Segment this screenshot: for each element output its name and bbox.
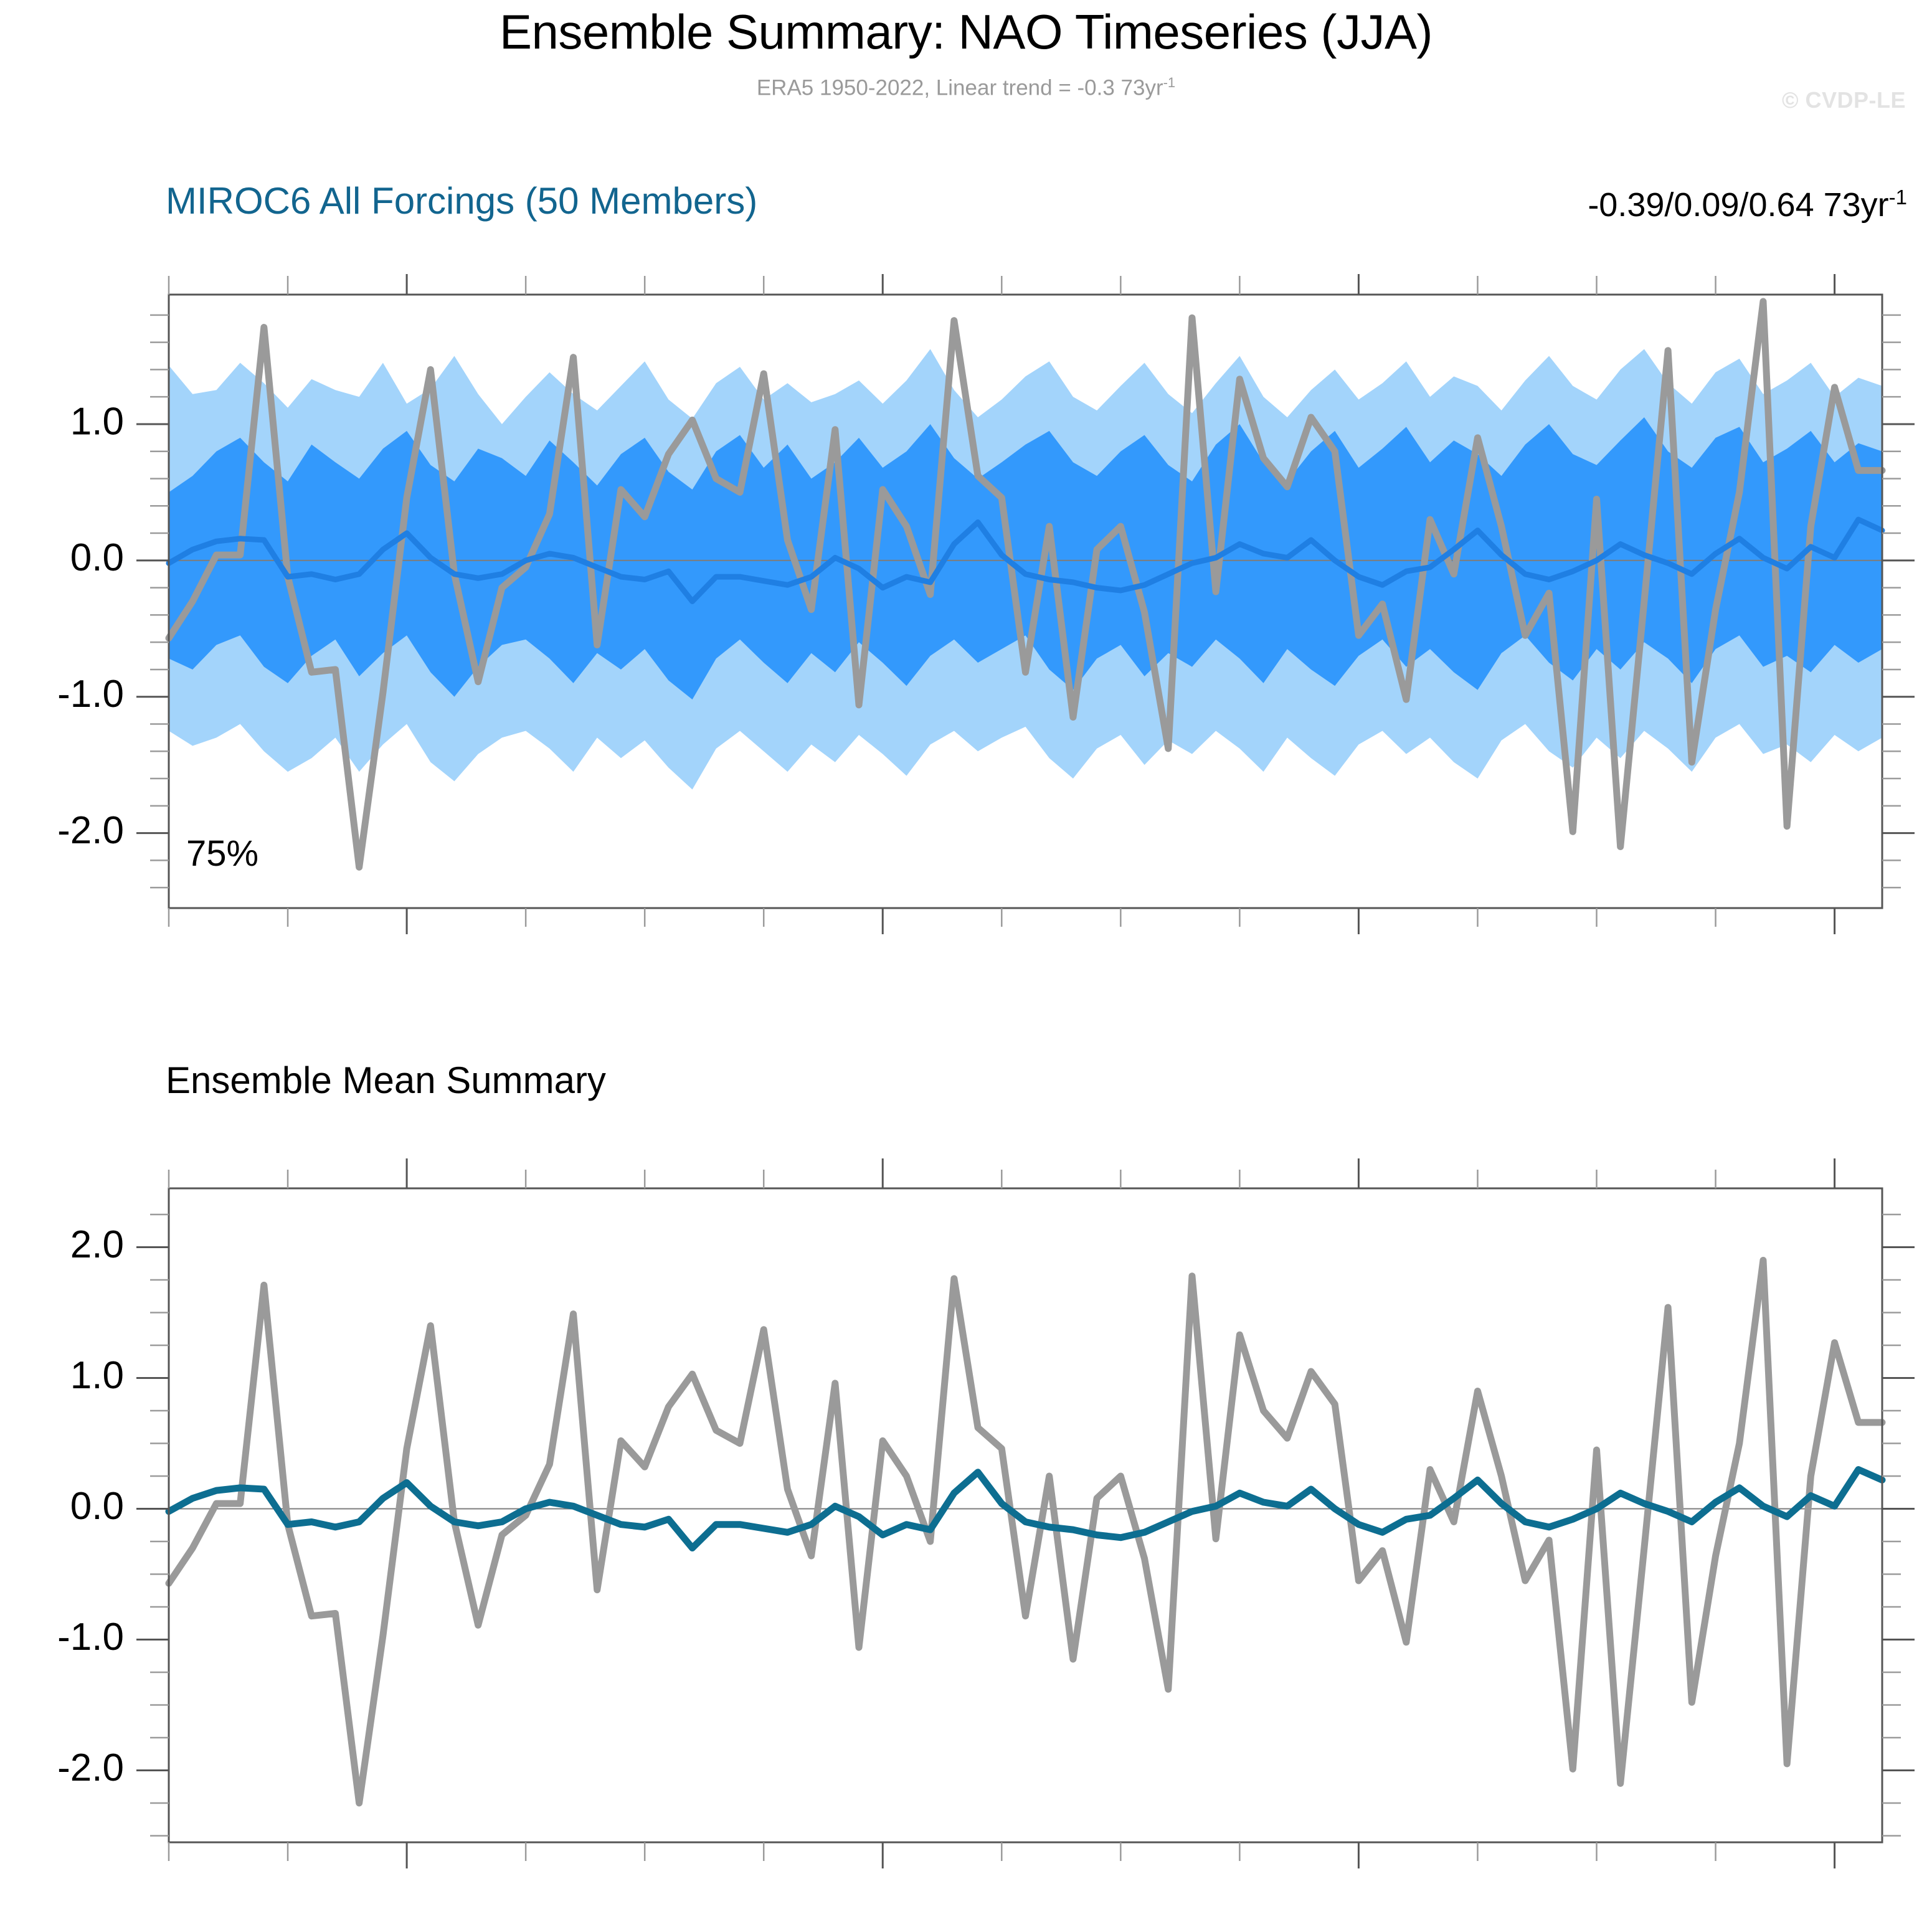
- y-tick-label: -1.0: [57, 673, 124, 716]
- page-subtitle: ERA5 1950-2022, Linear trend = -0.3 73yr…: [0, 75, 1932, 101]
- subtitle-text: ERA5 1950-2022, Linear trend = -0.3 73yr: [757, 76, 1163, 100]
- y-tick-label: 1.0: [70, 400, 124, 443]
- percent-band-label: 75%: [186, 833, 258, 874]
- panel1-trend-annotation: -0.39/0.09/0.64 73yr-1: [1588, 186, 1907, 224]
- y-tick-label: 1.0: [70, 1354, 124, 1397]
- panel2-title: Ensemble Mean Summary: [166, 1059, 606, 1102]
- ensemble-mean-panel: 2.01.00.0-1.0-2.01960198020002020: [0, 1158, 1932, 1868]
- cvdp-watermark: © CVDP-LE: [1782, 87, 1906, 113]
- panel1-title: MIROC6 All Forcings (50 Members): [166, 179, 757, 222]
- page-title: Ensemble Summary: NAO Timeseries (JJA): [0, 4, 1932, 60]
- chart-page: Ensemble Summary: NAO Timeseries (JJA) E…: [0, 0, 1932, 1927]
- y-tick-label: 0.0: [70, 536, 124, 579]
- trend-exponent: -1: [1889, 186, 1907, 209]
- subtitle-exponent: -1: [1163, 75, 1176, 90]
- observations-line: [169, 1261, 1882, 1804]
- y-tick-label: -2.0: [57, 809, 124, 852]
- y-tick-label: -2.0: [57, 1746, 124, 1789]
- y-tick-label: 0.0: [70, 1485, 124, 1528]
- ensemble-summary-panel: 1.00.0-1.0-2.0196019802000202075%: [0, 274, 1932, 934]
- y-tick-label: 2.0: [70, 1223, 124, 1266]
- trend-values: -0.39/0.09/0.64 73yr: [1588, 186, 1888, 224]
- y-tick-label: -1.0: [57, 1616, 124, 1659]
